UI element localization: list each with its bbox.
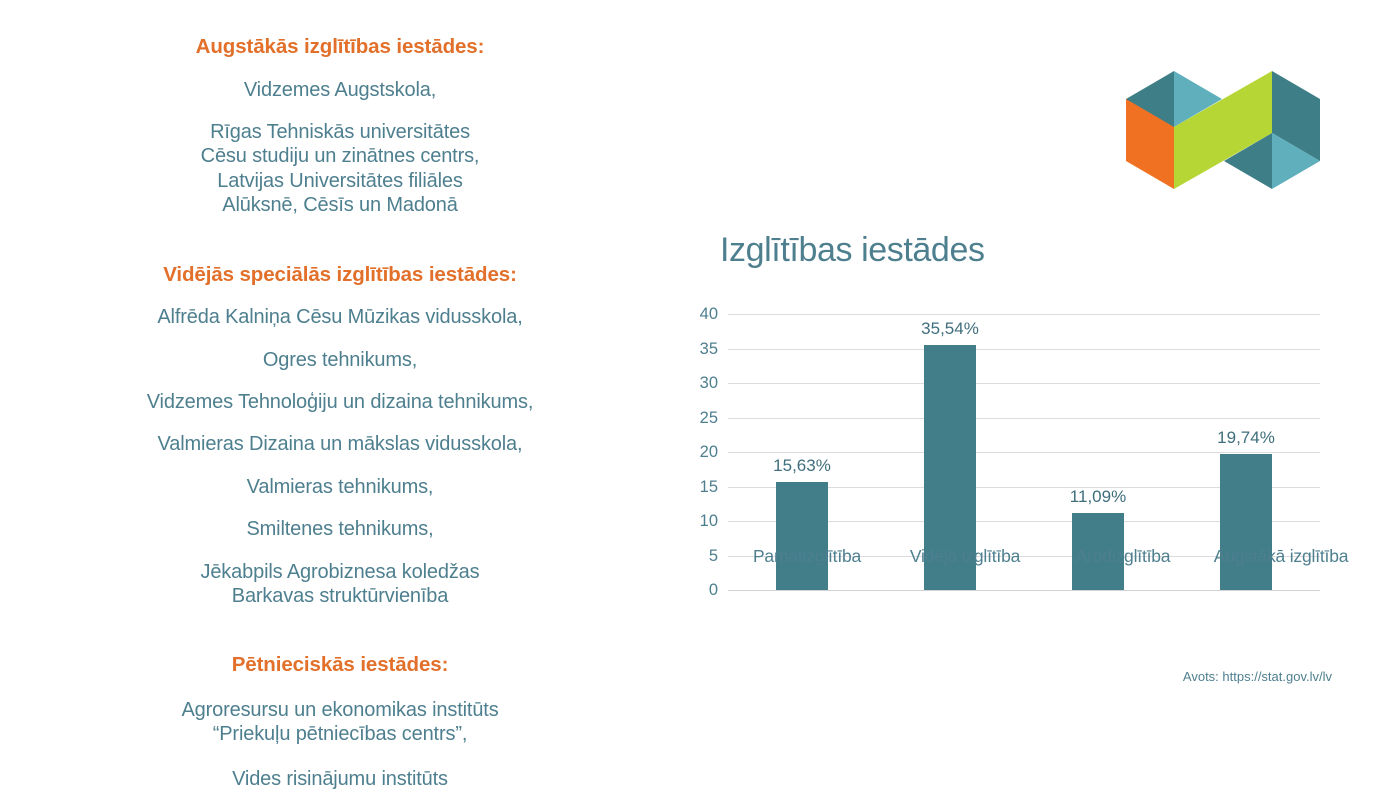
list-item: Latvijas Universitātes filiāles Alūksnē,… (30, 169, 650, 218)
list-item: Vidzemes Augstskola, (30, 78, 650, 102)
x-axis-tick-label: Augstākā izglītība (1202, 548, 1360, 566)
y-axis-tick-label: 40 (700, 306, 718, 323)
list-item: Ogres tehnikums, (30, 348, 650, 372)
y-axis-tick-label: 0 (709, 582, 718, 599)
y-axis-tick-label: 10 (700, 513, 718, 530)
section-research-institutions: Pētnieciskās iestādes: Agroresursu un ek… (30, 652, 650, 791)
list-item: Agroresursu un ekonomikas institūts “Pri… (30, 698, 650, 747)
bar-value-label: 11,09% (1070, 488, 1126, 505)
section-heading-higher-education: Augstākās izglītības iestādes: (30, 34, 650, 60)
list-item: Vides risinājumu institūts (30, 767, 650, 791)
bar-value-label: 15,63% (773, 457, 831, 474)
chart-source-note: Avots: https://stat.gov.lv/lv (1183, 670, 1332, 683)
list-item: Valmieras Dizaina un mākslas vidusskola, (30, 432, 650, 456)
education-institutions-chart: Izglītības iestādes 4035302520151050 15,… (680, 232, 1380, 702)
section-vocational-education: Vidējās speciālās izglītības iestādes: A… (30, 262, 650, 609)
x-axis-tick-label: Pamatizglītība (728, 548, 886, 566)
section-heading-research-institutions: Pētnieciskās iestādes: (30, 652, 650, 678)
chart-bar[interactable] (776, 482, 828, 590)
chart-x-axis-labels: PamatizglītībaVidējā izglītībaArodizglīt… (728, 548, 1360, 566)
list-item: Vidzemes Tehnoloģiju un dizaina tehnikum… (30, 390, 650, 414)
list-item: Rīgas Tehniskās universitātes Cēsu studi… (30, 120, 650, 169)
x-axis-tick-label: Vidējā izglītība (886, 548, 1044, 566)
section-heading-vocational-education: Vidējās speciālās izglītības iestādes: (30, 262, 650, 288)
y-axis-tick-label: 35 (700, 340, 718, 357)
vidzeme-cubes-logo-icon (1108, 68, 1338, 192)
y-axis-tick-label: 25 (700, 409, 718, 426)
chart-bar[interactable] (1220, 454, 1272, 590)
y-axis-tick-label: 5 (709, 547, 718, 564)
y-axis-tick-label: 20 (700, 444, 718, 461)
list-item: Jēkabpils Agrobiznesa koledžas Barkavas … (30, 560, 650, 609)
x-axis-tick-label: Arodizglītība (1044, 548, 1202, 566)
chart-title: Izglītības iestādes (720, 232, 985, 269)
list-item: Smiltenes tehnikums, (30, 517, 650, 541)
list-item: Valmieras tehnikums, (30, 475, 650, 499)
bar-value-label: 19,74% (1217, 429, 1275, 446)
bar-value-label: 35,54% (921, 320, 979, 337)
gridline (728, 590, 1320, 591)
institutions-list-column: Augstākās izglītības iestādes: Vidzemes … (0, 0, 680, 788)
list-item: Alfrēda Kalniņa Cēsu Mūzikas vidusskola, (30, 305, 650, 329)
y-axis-tick-label: 15 (700, 478, 718, 495)
section-higher-education: Augstākās izglītības iestādes: Vidzemes … (30, 34, 650, 218)
y-axis-tick-label: 30 (700, 375, 718, 392)
